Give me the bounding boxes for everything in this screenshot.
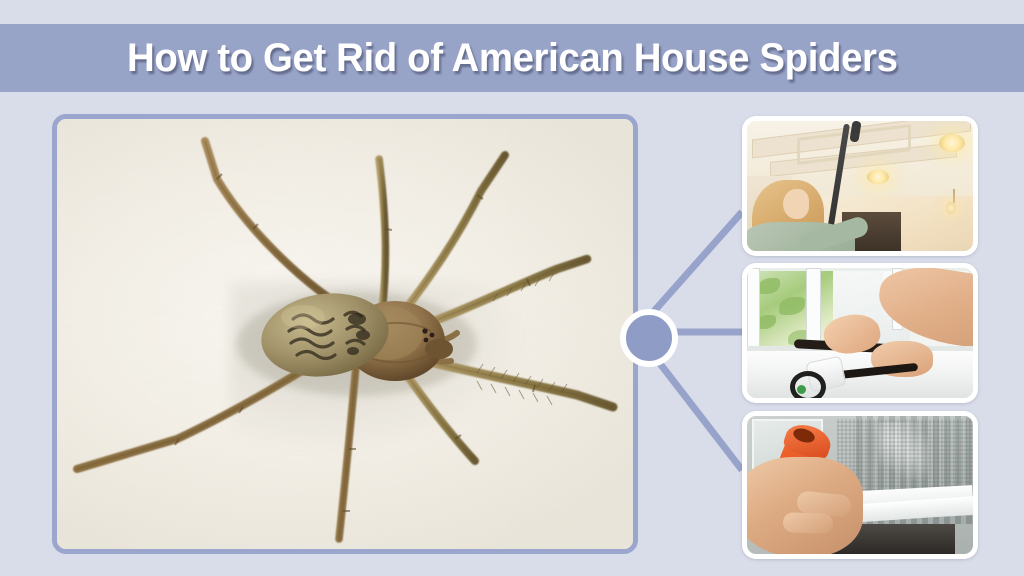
infographic-canvas: How to Get Rid of American House Spiders	[0, 0, 1024, 576]
recessed-light-icon	[939, 134, 965, 152]
weather-stripping-thumbnail[interactable]	[742, 263, 978, 403]
dusting-ceiling-thumbnail[interactable]	[742, 116, 978, 256]
weather-stripping-image	[747, 268, 973, 398]
caulking-window-thumbnail[interactable]	[742, 411, 978, 559]
connector-hub-node	[620, 309, 678, 367]
pendant-lamp-icon	[946, 202, 956, 214]
dusting-ceiling-image	[747, 121, 973, 251]
caulking-window-image	[747, 416, 973, 554]
